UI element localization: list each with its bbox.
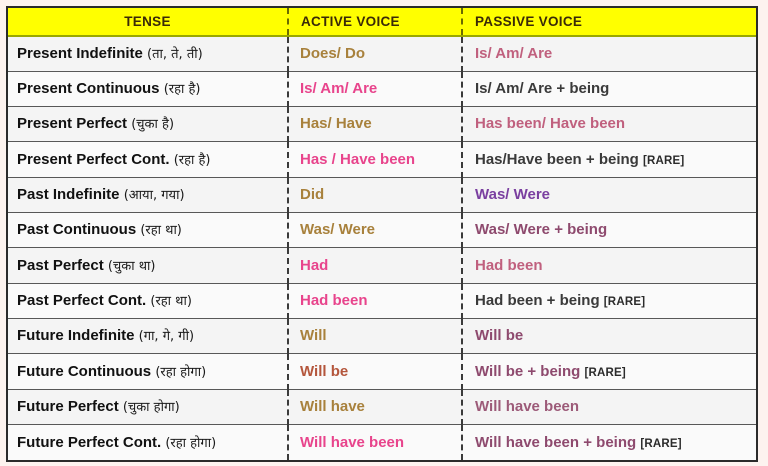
- column-header-active-voice: ACTIVE VOICE: [288, 8, 462, 36]
- tense-hindi-hint: (रहा होगा): [165, 436, 216, 451]
- rare-tag: [RARE]: [584, 367, 625, 379]
- active-voice-cell: Is/ Am/ Are: [288, 71, 462, 106]
- tense-cell: Past Perfect (चुका था): [8, 248, 288, 283]
- active-voice-cell: Will: [288, 319, 462, 354]
- active-voice-cell: Had: [288, 248, 462, 283]
- tense-cell: Past Perfect Cont. (रहा था): [8, 283, 288, 318]
- tense-hindi-hint: (गा, गे, गी): [139, 329, 194, 344]
- tense-name: Future Perfect Cont.: [17, 434, 161, 451]
- tense-cell: Past Continuous (रहा था): [8, 213, 288, 248]
- table-row: Present Indefinite (ता, ते, ती)Does/ DoI…: [8, 36, 756, 71]
- passive-voice-text: Is/ Am/ Are: [475, 45, 552, 62]
- passive-voice-text: Has/Have been + being: [475, 151, 639, 168]
- active-voice-text: Will: [300, 327, 327, 344]
- tense-cell: Future Perfect Cont. (रहा होगा): [8, 425, 288, 460]
- table-row: Present Perfect (चुका है)Has/ HaveHas be…: [8, 107, 756, 142]
- tense-cell: Future Perfect (चुका होगा): [8, 389, 288, 424]
- passive-voice-text: Will have been: [475, 398, 579, 415]
- table-row: Future Continuous (रहा होगा)Will beWill …: [8, 354, 756, 389]
- tense-voice-table: TENSE ACTIVE VOICE PASSIVE VOICE Present…: [8, 8, 756, 460]
- tense-name: Present Continuous: [17, 80, 160, 97]
- active-voice-cell: Will be: [288, 354, 462, 389]
- table-row: Past Indefinite (आया, गया)DidWas/ Were: [8, 177, 756, 212]
- tense-cell: Future Indefinite (गा, गे, गी): [8, 319, 288, 354]
- rare-tag: [RARE]: [643, 155, 684, 167]
- tense-name: Present Perfect: [17, 115, 127, 132]
- tense-name: Past Indefinite: [17, 186, 120, 203]
- active-voice-text: Was/ Were: [300, 221, 375, 238]
- passive-voice-text: Will be + being: [475, 363, 580, 380]
- tense-name: Past Perfect: [17, 257, 104, 274]
- column-header-tense: TENSE: [8, 8, 288, 36]
- tense-name: Future Indefinite: [17, 327, 135, 344]
- table-header: TENSE ACTIVE VOICE PASSIVE VOICE: [8, 8, 756, 36]
- page-root: TENSE ACTIVE VOICE PASSIVE VOICE Present…: [0, 0, 768, 466]
- passive-voice-text: Had been + being: [475, 292, 600, 309]
- passive-voice-text: Will have been + being: [475, 434, 636, 451]
- tense-hindi-hint: (रहा है): [164, 82, 201, 97]
- tense-name: Present Indefinite: [17, 45, 143, 62]
- table-row: Future Indefinite (गा, गे, गी)WillWill b…: [8, 319, 756, 354]
- tense-hindi-hint: (रहा है): [174, 153, 211, 168]
- tense-voice-table-container: TENSE ACTIVE VOICE PASSIVE VOICE Present…: [6, 6, 758, 462]
- passive-voice-text: Was/ Were + being: [475, 221, 607, 238]
- table-row: Past Continuous (रहा था)Was/ WereWas/ We…: [8, 213, 756, 248]
- tense-name: Future Continuous: [17, 363, 151, 380]
- table-body: Present Indefinite (ता, ते, ती)Does/ DoI…: [8, 36, 756, 460]
- tense-cell: Present Continuous (रहा है): [8, 71, 288, 106]
- active-voice-text: Does/ Do: [300, 45, 365, 62]
- tense-hindi-hint: (ता, ते, ती): [147, 47, 203, 62]
- active-voice-cell: Had been: [288, 283, 462, 318]
- active-voice-text: Is/ Am/ Are: [300, 80, 377, 97]
- header-row: TENSE ACTIVE VOICE PASSIVE VOICE: [8, 8, 756, 36]
- tense-cell: Present Perfect (चुका है): [8, 107, 288, 142]
- active-voice-text: Will have been: [300, 434, 404, 451]
- tense-name: Present Perfect Cont.: [17, 151, 170, 168]
- tense-name: Future Perfect: [17, 398, 119, 415]
- active-voice-cell: Will have: [288, 389, 462, 424]
- tense-hindi-hint: (रहा होगा): [155, 365, 206, 380]
- table-row: Future Perfect (चुका होगा)Will haveWill …: [8, 389, 756, 424]
- passive-voice-text: Was/ Were: [475, 186, 550, 203]
- passive-voice-text: Had been: [475, 257, 543, 274]
- tense-cell: Present Perfect Cont. (रहा है): [8, 142, 288, 177]
- passive-voice-cell: Will be: [462, 319, 756, 354]
- passive-voice-cell: Will have been: [462, 389, 756, 424]
- passive-voice-cell: Will have been + being [RARE]: [462, 425, 756, 460]
- passive-voice-cell: Has been/ Have been: [462, 107, 756, 142]
- table-row: Past Perfect Cont. (रहा था)Had beenHad b…: [8, 283, 756, 318]
- active-voice-cell: Has/ Have: [288, 107, 462, 142]
- passive-voice-cell: Is/ Am/ Are: [462, 36, 756, 71]
- tense-hindi-hint: (चुका है): [131, 117, 174, 132]
- passive-voice-cell: Will be + being [RARE]: [462, 354, 756, 389]
- tense-hindi-hint: (चुका था): [108, 259, 156, 274]
- table-row: Past Perfect (चुका था)HadHad been: [8, 248, 756, 283]
- active-voice-text: Has/ Have: [300, 115, 372, 132]
- table-row: Future Perfect Cont. (रहा होगा)Will have…: [8, 425, 756, 460]
- active-voice-text: Had: [300, 257, 328, 274]
- column-header-passive-voice: PASSIVE VOICE: [462, 8, 756, 36]
- tense-cell: Present Indefinite (ता, ते, ती): [8, 36, 288, 71]
- passive-voice-cell: Has/Have been + being [RARE]: [462, 142, 756, 177]
- passive-voice-cell: Was/ Were: [462, 177, 756, 212]
- active-voice-text: Will have: [300, 398, 365, 415]
- active-voice-cell: Was/ Were: [288, 213, 462, 248]
- tense-name: Past Perfect Cont.: [17, 292, 146, 309]
- passive-voice-cell: Had been: [462, 248, 756, 283]
- active-voice-cell: Did: [288, 177, 462, 212]
- passive-voice-text: Has been/ Have been: [475, 115, 625, 132]
- active-voice-text: Will be: [300, 363, 348, 380]
- tense-hindi-hint: (रहा था): [150, 294, 192, 309]
- active-voice-cell: Will have been: [288, 425, 462, 460]
- passive-voice-cell: Is/ Am/ Are + being: [462, 71, 756, 106]
- tense-cell: Future Continuous (रहा होगा): [8, 354, 288, 389]
- tense-cell: Past Indefinite (आया, गया): [8, 177, 288, 212]
- table-row: Present Continuous (रहा है)Is/ Am/ AreIs…: [8, 71, 756, 106]
- passive-voice-text: Will be: [475, 327, 523, 344]
- tense-hindi-hint: (चुका होगा): [123, 400, 180, 415]
- active-voice-cell: Has / Have been: [288, 142, 462, 177]
- active-voice-text: Has / Have been: [300, 151, 415, 168]
- table-row: Present Perfect Cont. (रहा है)Has / Have…: [8, 142, 756, 177]
- tense-hindi-hint: (रहा था): [140, 223, 182, 238]
- active-voice-text: Did: [300, 186, 324, 203]
- passive-voice-cell: Was/ Were + being: [462, 213, 756, 248]
- tense-name: Past Continuous: [17, 221, 136, 238]
- rare-tag: [RARE]: [640, 438, 681, 450]
- tense-hindi-hint: (आया, गया): [124, 188, 185, 203]
- rare-tag: [RARE]: [604, 296, 645, 308]
- passive-voice-text: Is/ Am/ Are + being: [475, 80, 609, 97]
- passive-voice-cell: Had been + being [RARE]: [462, 283, 756, 318]
- active-voice-cell: Does/ Do: [288, 36, 462, 71]
- active-voice-text: Had been: [300, 292, 368, 309]
